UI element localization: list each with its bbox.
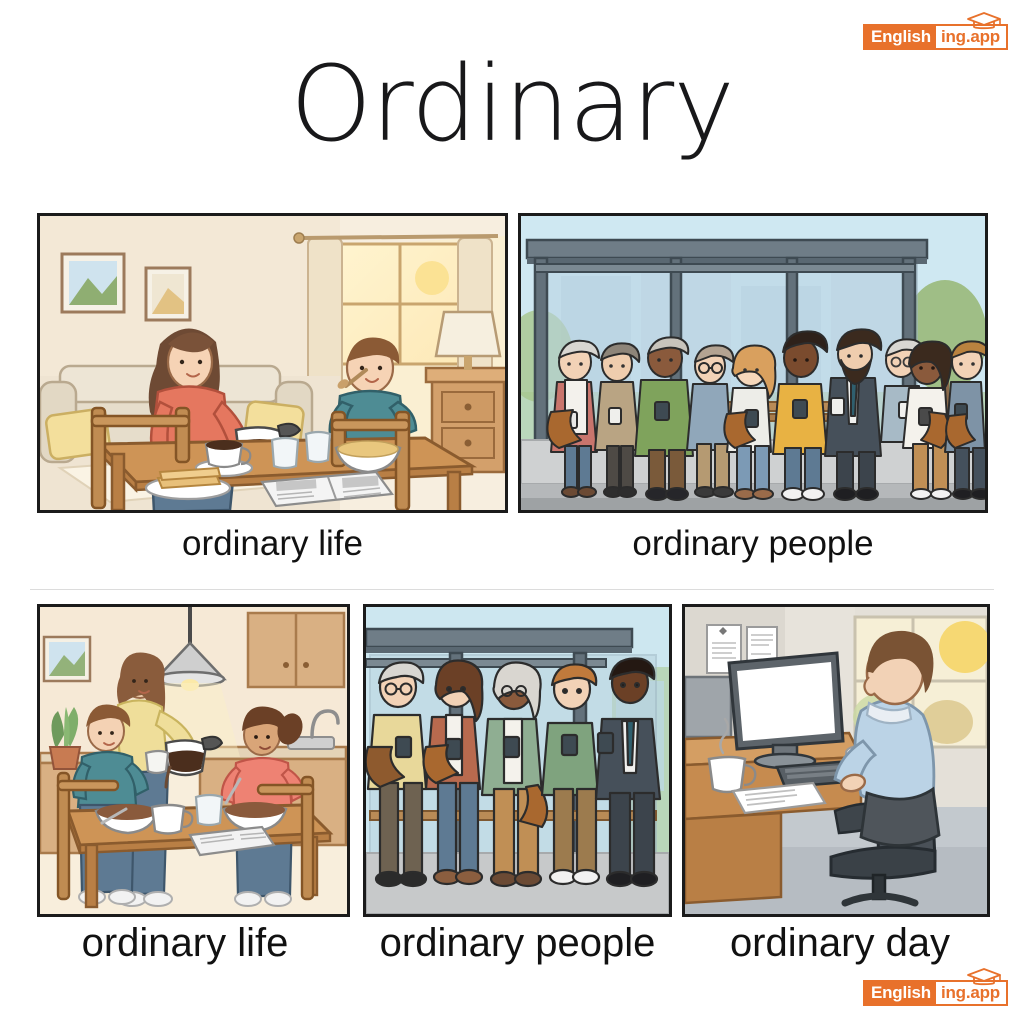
illustration-panel-ordinary-life-1 xyxy=(37,213,508,513)
scene-kitchen-breakfast xyxy=(40,607,347,914)
graduation-cap-icon xyxy=(964,11,1004,31)
caption-ordinary-day: ordinary day xyxy=(685,921,995,966)
illustration-panel-ordinary-people-1 xyxy=(518,213,988,513)
section-divider xyxy=(30,589,994,590)
illustration-panel-ordinary-people-2 xyxy=(363,604,672,917)
caption-ordinary-people-2: ordinary people xyxy=(355,921,680,966)
illustration-panel-ordinary-day xyxy=(682,604,990,917)
page-title: Ordinary xyxy=(0,52,1024,156)
scene-office-desk-work xyxy=(685,607,987,914)
brand-logo-top[interactable]: English ing.app xyxy=(863,24,1008,50)
scene-bus-shelter-crowd xyxy=(521,216,985,510)
graduation-cap-icon xyxy=(964,967,1004,987)
illustration-panel-ordinary-life-2 xyxy=(37,604,350,917)
logo-text-english: English xyxy=(865,26,936,48)
caption-ordinary-life-2: ordinary life xyxy=(20,921,350,966)
logo-text-english: English xyxy=(865,982,936,1004)
caption-ordinary-life-1: ordinary life xyxy=(37,524,508,564)
brand-logo-bottom[interactable]: English ing.app xyxy=(863,980,1008,1006)
scene-bus-shelter-five xyxy=(366,607,669,914)
lesson-card: English ing.app Ordinary xyxy=(0,0,1024,1024)
caption-ordinary-people-1: ordinary people xyxy=(518,524,988,564)
scene-family-breakfast-living-room xyxy=(40,216,505,510)
